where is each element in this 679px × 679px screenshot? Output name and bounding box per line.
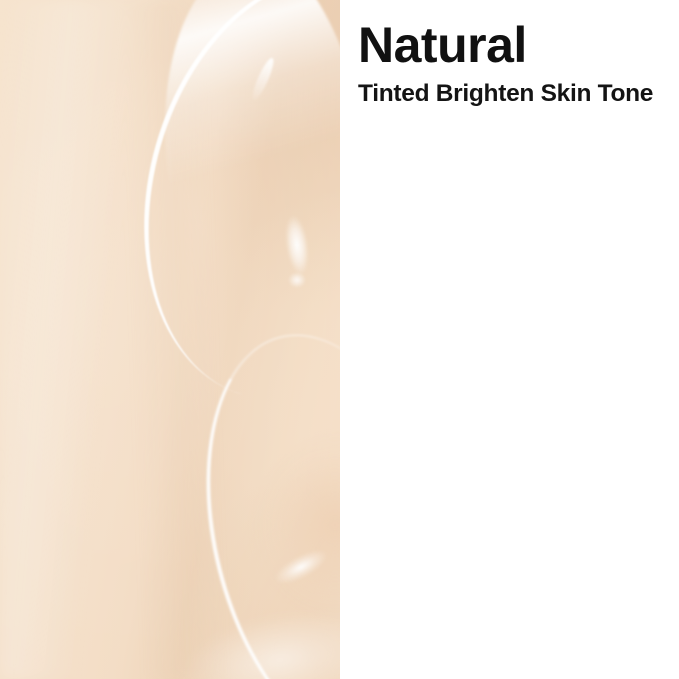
content-panel: Natural Tinted Brighten Skin Tone 98% Sa…: [340, 0, 679, 679]
title-block: Natural Tinted Brighten Skin Tone: [358, 20, 679, 108]
texture-vignette: [0, 0, 340, 679]
page-title: Natural: [358, 20, 679, 70]
page-subtitle: Tinted Brighten Skin Tone: [358, 81, 679, 108]
product-infographic: Natural Tinted Brighten Skin Tone 98% Sa…: [0, 0, 679, 679]
product-texture-image: [0, 0, 340, 679]
